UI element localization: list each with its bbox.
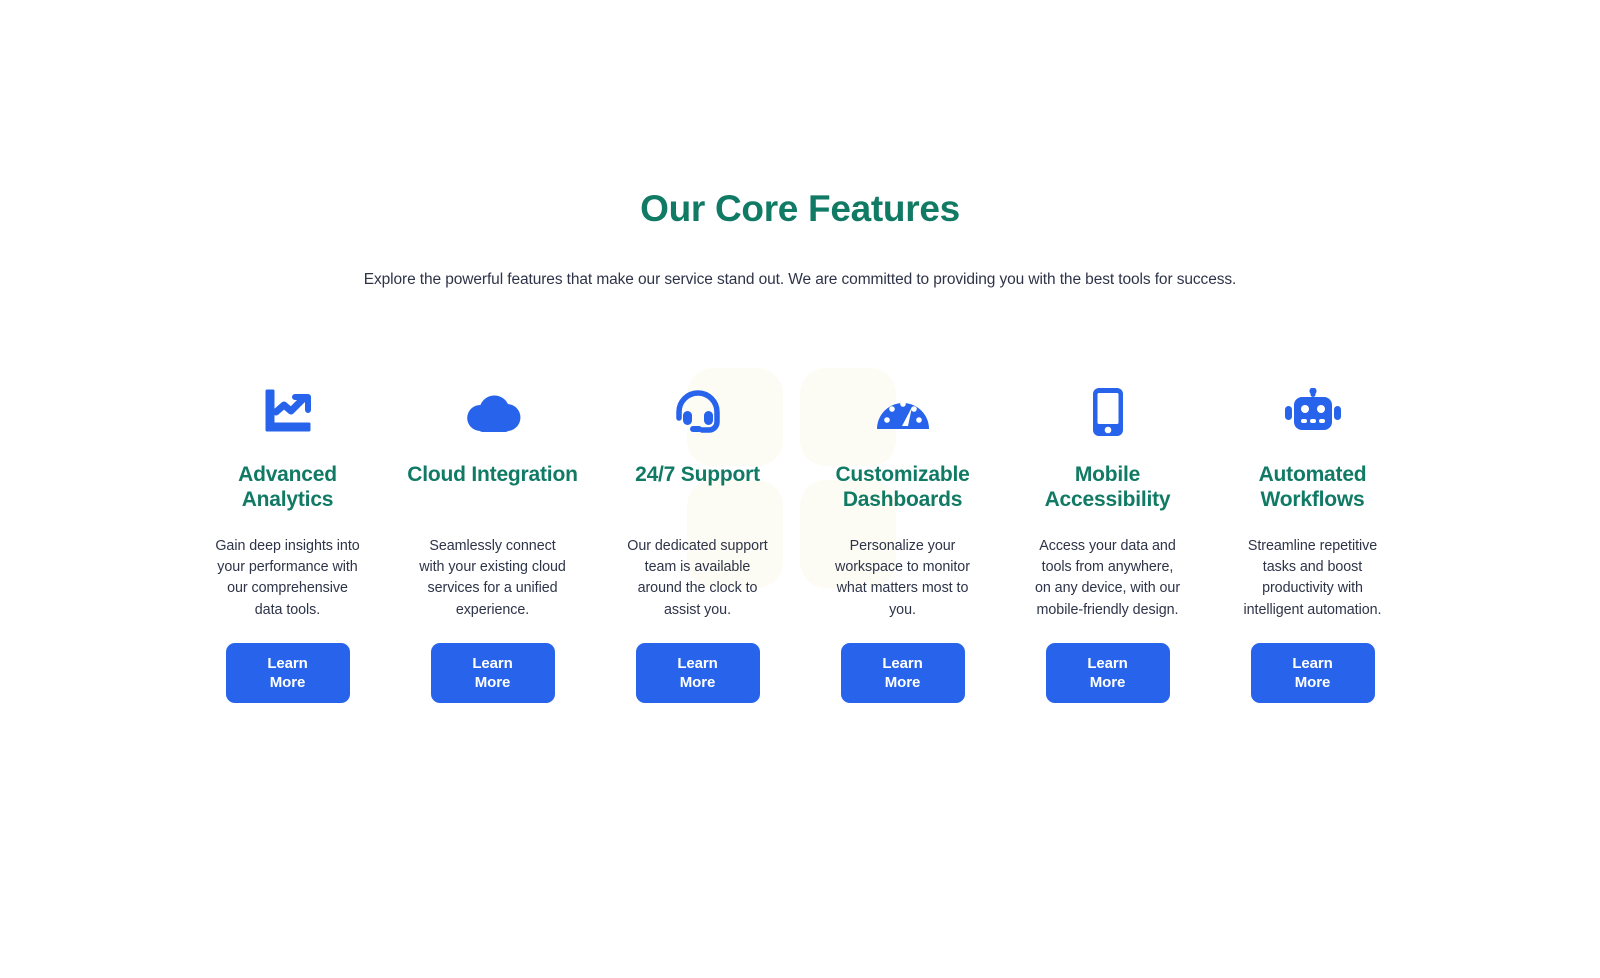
page-header: Our Core Features Explore the powerful f… — [0, 0, 1600, 292]
feature-title: Cloud Integration — [407, 462, 577, 514]
features-grid: Advanced Analytics Gain deep insights in… — [0, 379, 1600, 704]
feature-card-automated-workflows: Automated Workflows Streamline repetitiv… — [1221, 379, 1405, 704]
feature-description: Gain deep insights into your performance… — [214, 514, 362, 622]
feature-card-customizable-dashboards: Customizable Dashboards Personalize your… — [811, 379, 995, 704]
learn-more-label: Learn More — [677, 654, 717, 693]
page-title: Our Core Features — [0, 186, 1600, 232]
feature-card-cloud-integration: Cloud Integration Seamlessly connect wit… — [401, 379, 585, 704]
learn-more-button[interactable]: Learn More — [841, 643, 965, 703]
mobile-phone-icon — [1091, 379, 1125, 445]
learn-more-button[interactable]: Learn More — [636, 643, 760, 703]
cloud-icon — [464, 379, 522, 445]
learn-more-label: Learn More — [267, 654, 307, 693]
learn-more-button[interactable]: Learn More — [1251, 643, 1375, 703]
feature-title: Customizable Dashboards — [811, 462, 995, 514]
feature-title: Advanced Analytics — [196, 462, 380, 514]
feature-title: 24/7 Support — [635, 462, 760, 514]
gauge-dashboard-icon — [875, 379, 931, 445]
feature-card-mobile-accessibility: Mobile Accessibility Access your data an… — [1016, 379, 1200, 704]
feature-title: Mobile Accessibility — [1016, 462, 1200, 514]
learn-more-label: Learn More — [472, 654, 512, 693]
features-page: Our Core Features Explore the powerful f… — [0, 0, 1600, 978]
learn-more-label: Learn More — [1087, 654, 1127, 693]
learn-more-label: Learn More — [882, 654, 922, 693]
feature-description: Personalize your workspace to monitor wh… — [829, 514, 977, 622]
learn-more-button[interactable]: Learn More — [226, 643, 350, 703]
learn-more-button[interactable]: Learn More — [431, 643, 555, 703]
chart-line-up-icon — [262, 379, 314, 445]
robot-icon — [1284, 379, 1342, 445]
feature-card-advanced-analytics: Advanced Analytics Gain deep insights in… — [196, 379, 380, 704]
page-subtitle: Explore the powerful features that make … — [0, 232, 1600, 291]
feature-card-247-support: 24/7 Support Our dedicated support team … — [606, 379, 790, 704]
learn-more-button[interactable]: Learn More — [1046, 643, 1170, 703]
headset-support-icon — [672, 379, 724, 445]
feature-title: Automated Workflows — [1221, 462, 1405, 514]
feature-description: Access your data and tools from anywhere… — [1034, 514, 1182, 622]
feature-description: Seamlessly connect with your existing cl… — [419, 514, 567, 622]
learn-more-label: Learn More — [1292, 654, 1332, 693]
feature-description: Streamline repetitive tasks and boost pr… — [1239, 514, 1387, 622]
feature-description: Our dedicated support team is available … — [624, 514, 772, 622]
